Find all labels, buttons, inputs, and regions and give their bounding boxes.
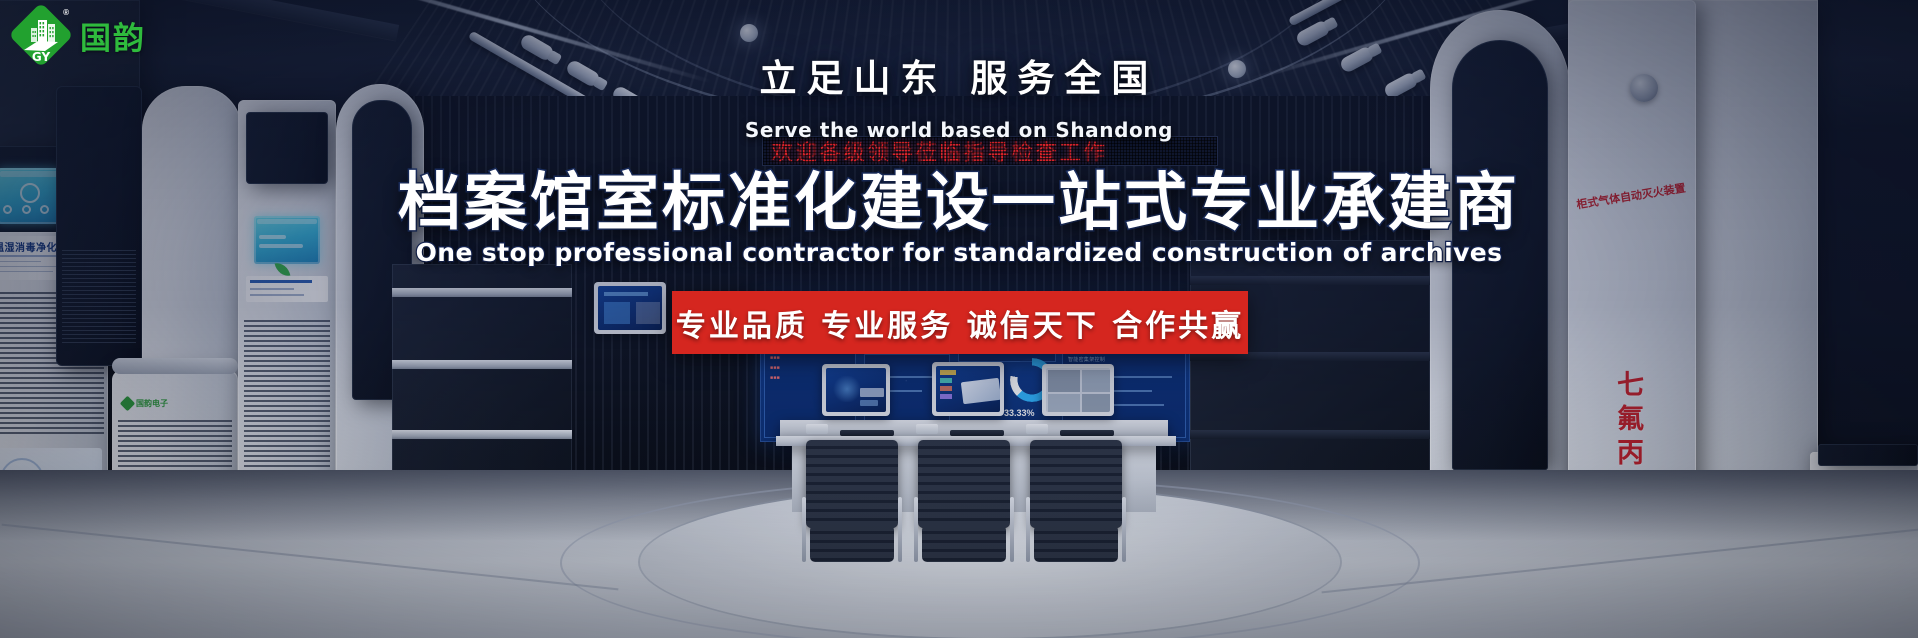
shelf-board: [1190, 430, 1430, 439]
archive-cabinet-vent: [244, 320, 330, 470]
archive-cabinet-label: [246, 276, 328, 302]
operator-chair: [1030, 440, 1122, 582]
hero-tagline-en: Serve the world based on Shandong: [0, 118, 1918, 142]
chair-back: [806, 440, 898, 528]
chair-arm: [1122, 497, 1126, 562]
dehumidifier-brand-text: 国韵电子: [136, 398, 168, 409]
chair-arm: [1010, 497, 1014, 562]
video-wall-panel-line: 智能密集架控制: [1068, 356, 1105, 364]
hero-red-banner: 专业品质 专业服务 诚信天下 合作共赢: [672, 291, 1248, 354]
video-wall-alert: ■■■: [770, 364, 780, 372]
logo-buildings-icon: GY: [12, 6, 70, 64]
brand-logo[interactable]: GY ® 国韵: [12, 6, 146, 64]
desk-phone: [806, 424, 828, 434]
operator-monitor: [822, 364, 890, 416]
monitor-screen: [1046, 368, 1110, 412]
hero-headline-cn: 档案馆室标准化建设一站式专业承建商: [0, 152, 1918, 243]
chair-seat: [1034, 525, 1119, 562]
chair-arm: [802, 497, 806, 562]
right-purifier-top: [1818, 444, 1918, 466]
right-shelving-unit: [1190, 240, 1430, 490]
operator-chair: [918, 440, 1010, 582]
left-shelving-unit: [392, 264, 572, 484]
desk-keyboard: [1060, 430, 1114, 436]
wall-mounted-monitor: [594, 282, 666, 334]
shelf-board: [392, 288, 572, 297]
hero-headline-en: One stop professional contractor for sta…: [0, 238, 1918, 267]
chair-arm: [1026, 497, 1030, 562]
chair-seat: [810, 525, 895, 562]
logo-mark: GY ®: [12, 6, 70, 64]
monitor-screen: [598, 286, 662, 330]
shelf-board: [1190, 276, 1430, 285]
monitor-screen: [936, 366, 1000, 412]
operator-chair: [806, 440, 898, 582]
registered-trademark-icon: ®: [63, 8, 69, 17]
svg-text:GY: GY: [32, 50, 51, 64]
video-wall-alert: ■■■: [770, 374, 780, 382]
video-wall-metric: 33.33%: [1004, 408, 1035, 418]
dehumidifier-handle: [112, 358, 238, 374]
desk-phone: [1026, 424, 1048, 434]
logo-brand-name: 国韵: [80, 13, 146, 58]
operator-monitor: [1042, 364, 1114, 416]
video-wall-alert: ■■■: [770, 354, 780, 362]
chair-back: [1030, 440, 1122, 528]
desk-keyboard: [840, 430, 894, 436]
chair-arm: [914, 497, 918, 562]
hero-banner: 欢迎各级领导莅临指导检查工作 档案室环境监测 温湿度实时数据采集 空气质量监测分…: [0, 0, 1918, 638]
shelf-board: [392, 430, 572, 439]
chair-back: [918, 440, 1010, 528]
hero-tagline-cn: 立足山东 服务全国: [0, 48, 1918, 102]
hero-red-banner-text: 专业品质 专业服务 诚信天下 合作共赢: [676, 301, 1244, 345]
operator-monitor: [932, 362, 1004, 416]
monitor-screen: [826, 368, 886, 412]
gy-diamond-icon: [120, 396, 136, 412]
downlight-icon: [740, 24, 758, 42]
chair-arm: [898, 497, 902, 562]
desk-phone: [916, 424, 938, 434]
chair-seat: [922, 525, 1007, 562]
dehumidifier-brand: 国韵电子: [122, 398, 168, 409]
shelf-board: [392, 360, 572, 369]
desk-keyboard: [950, 430, 1004, 436]
